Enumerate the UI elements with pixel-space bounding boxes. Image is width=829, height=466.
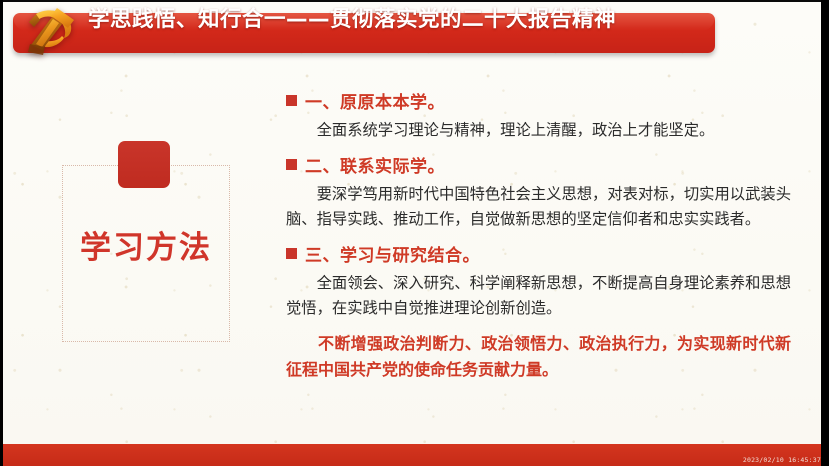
section-body-3: 全面领会、深入研究、科学阐释新思想，不断提高自身理论素养和思想觉悟，在实践中自觉… xyxy=(286,271,791,321)
section-heading-1: 一、原原本本学。 xyxy=(286,88,791,113)
presentation-slide: 学思践悟、知行合一——贯彻落实党的二十大报告精神 xyxy=(0,0,829,466)
section-body-1: 全面系统学习理论与精神，理论上清醒，政治上才能坚定。 xyxy=(286,118,791,143)
section-label: 学习方法 xyxy=(62,222,230,267)
content-area: 一、原原本本学。 全面系统学习理论与精神，理论上清醒，政治上才能坚定。 二、联系… xyxy=(286,88,791,383)
conclusion-text: 不断增强政治判断力、政治领悟力、政治执行力，为实现新时代新征程中国共产党的使命任… xyxy=(286,331,791,383)
footer-bar xyxy=(3,444,821,466)
square-bullet-icon xyxy=(286,248,297,259)
section-heading-3: 三、学习与研究结合。 xyxy=(286,241,791,266)
left-accent-square xyxy=(118,141,170,188)
letterbox-left xyxy=(0,0,3,466)
section-heading-2-text: 二、联系实际学。 xyxy=(305,152,445,177)
letterbox-top xyxy=(0,0,829,2)
square-bullet-icon xyxy=(286,159,297,170)
section-body-2: 要深学笃用新时代中国特色社会主义思想，对表对标，切实用以武装头脑、指导实践、推动… xyxy=(286,182,791,232)
cpc-hammer-sickle-emblem xyxy=(16,2,90,60)
letterbox-right xyxy=(821,0,829,466)
square-bullet-icon xyxy=(286,95,297,106)
section-heading-1-text: 一、原原本本学。 xyxy=(305,88,445,113)
recording-timestamp: 2023/02/10 16:45:37 xyxy=(743,456,821,464)
section-heading-3-text: 三、学习与研究结合。 xyxy=(305,241,480,266)
page-title: 学思践悟、知行合一——贯彻落实党的二十大报告精神 xyxy=(88,0,616,40)
section-heading-2: 二、联系实际学。 xyxy=(286,152,791,177)
